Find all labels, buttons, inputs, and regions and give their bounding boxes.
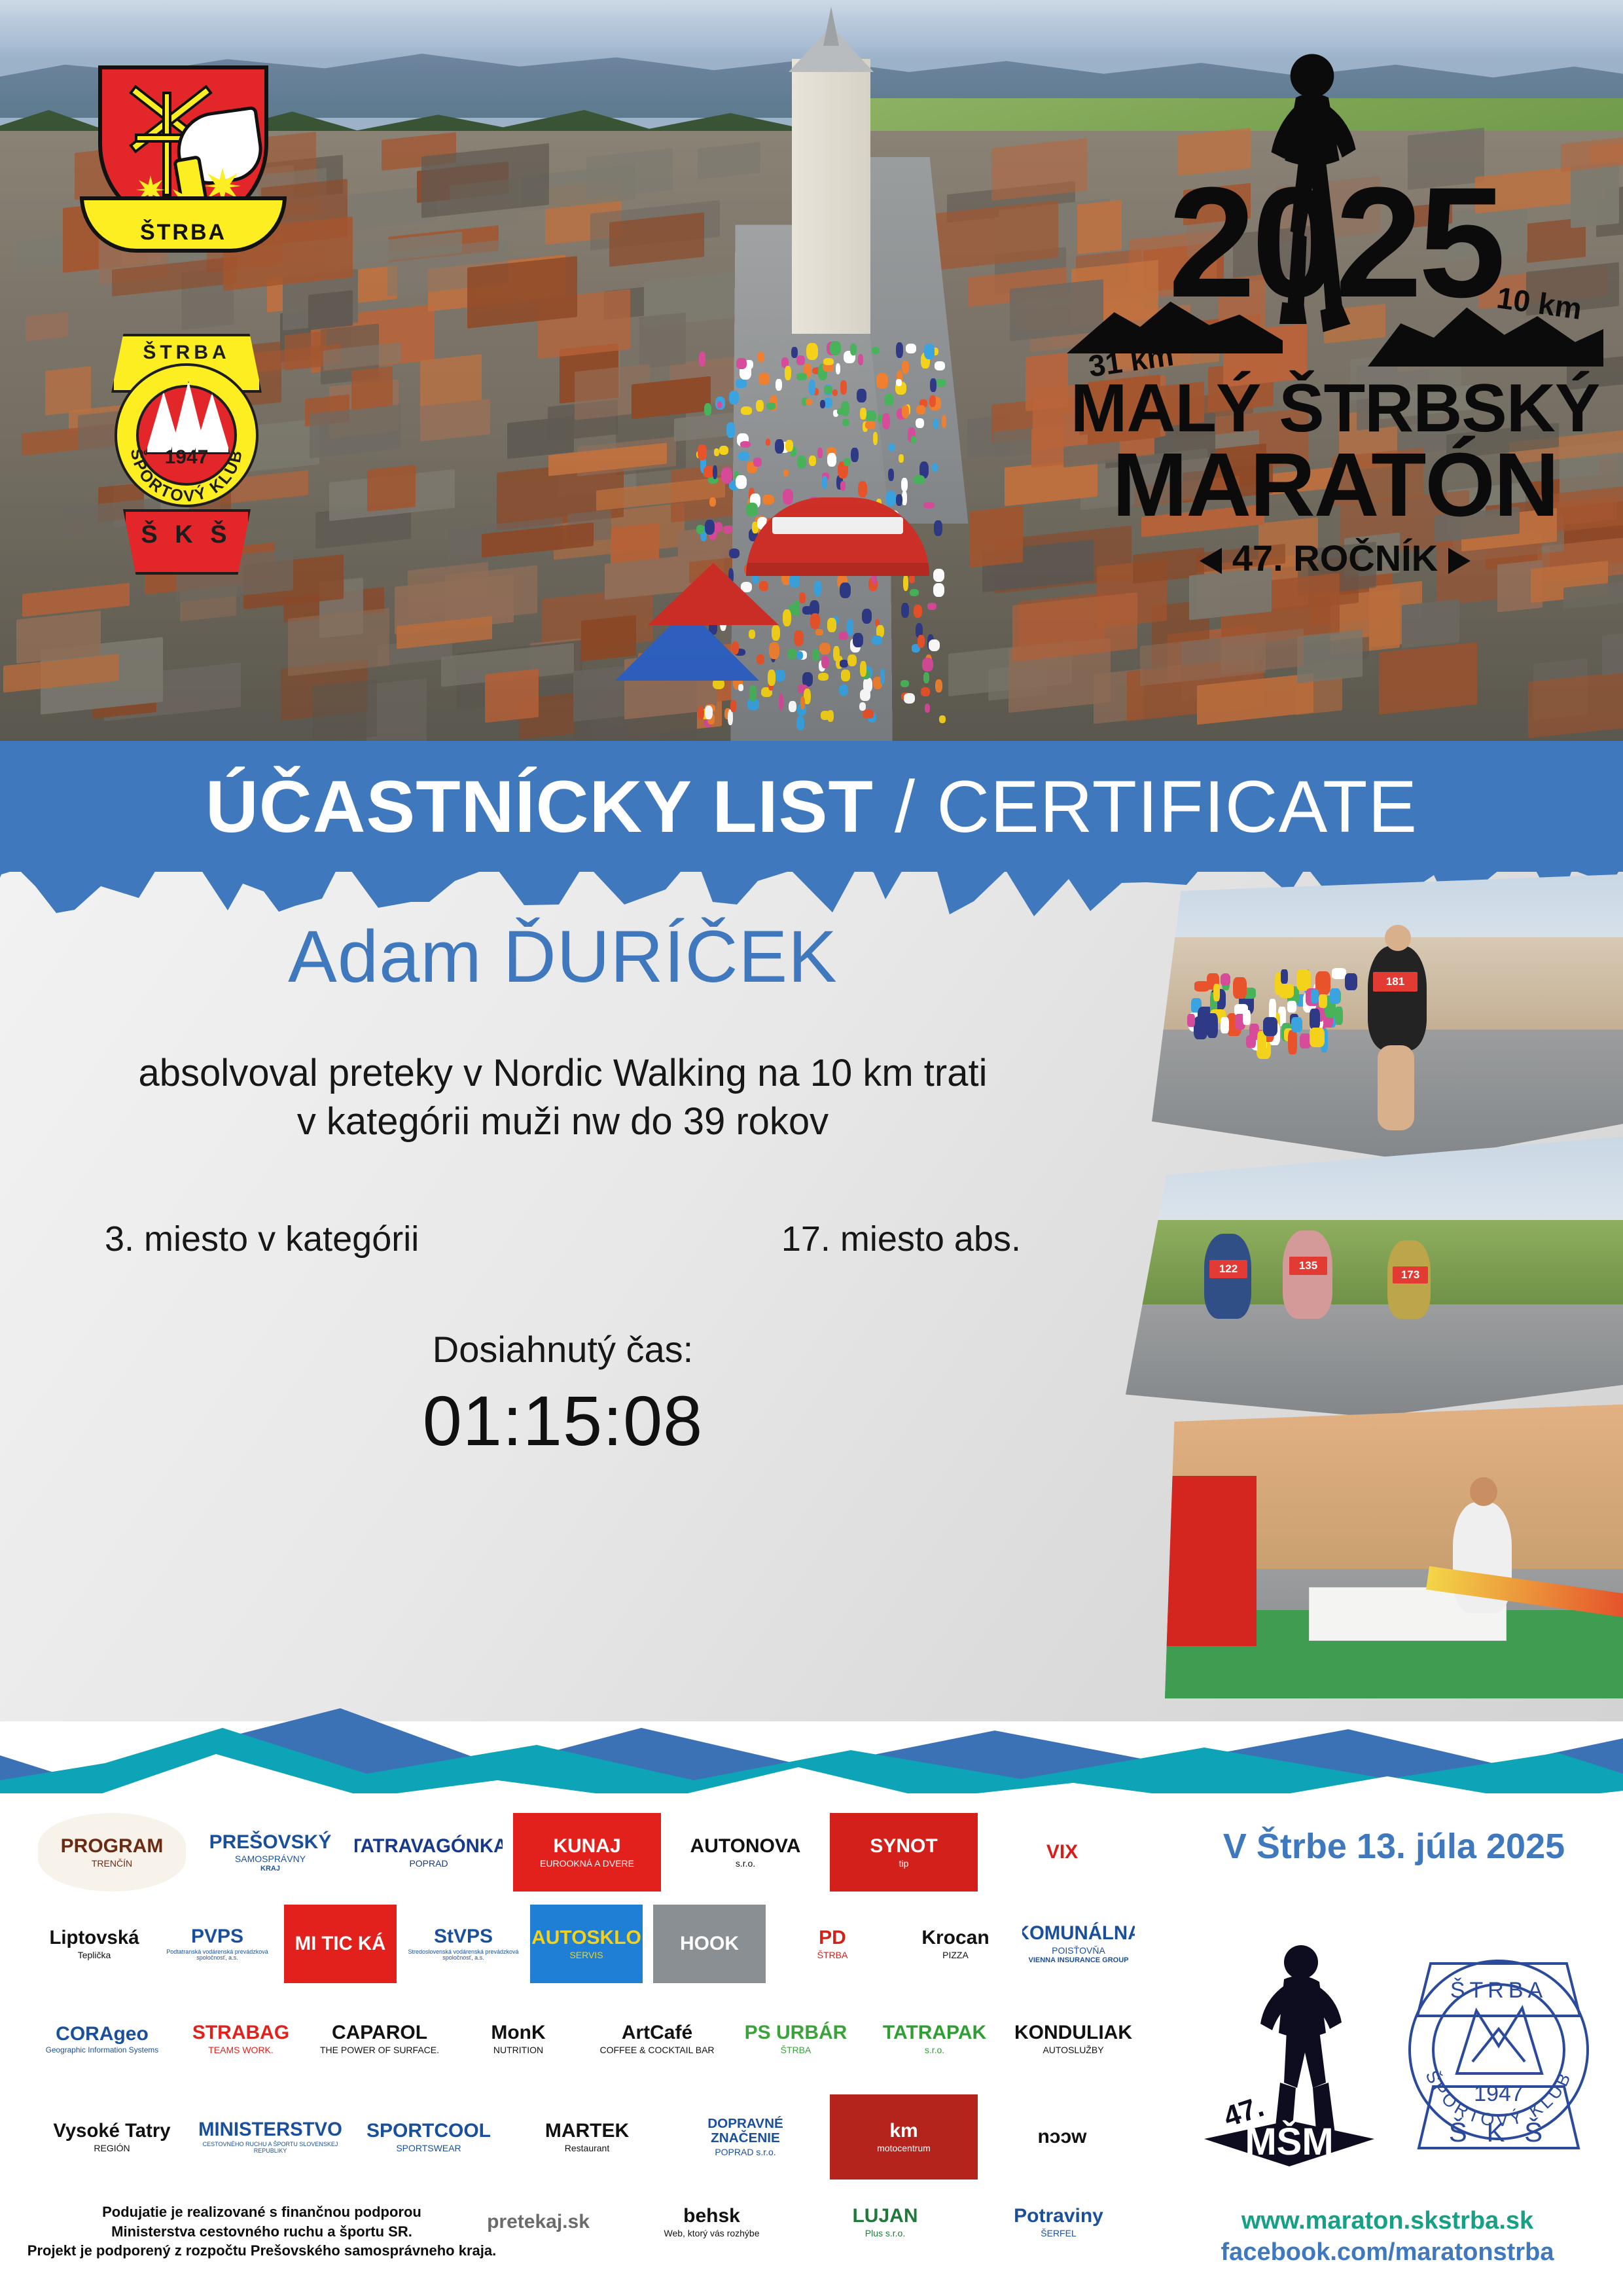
certificate-title: ÚČASTNÍCKY LIST / CERTIFICATE (205, 764, 1418, 849)
sponsor-label: LUJAN (852, 2206, 918, 2227)
photo2-bib-a: 122 (1209, 1260, 1247, 1278)
photo2-grass (1126, 1220, 1623, 1304)
sponsor-logo-3: TATRAVAGÓNKAPOPRAD (355, 1813, 503, 1892)
sponsor-name: PVPSPodtatranská vodárenská prevádzková … (161, 1926, 274, 1961)
sponsor-logo-33: behskWeb, ktorý vás rozhýbe (630, 2193, 793, 2251)
photo-spectator (1221, 974, 1230, 986)
category-placement: 3. miesto v kategórii (105, 1219, 419, 1259)
funding-disclaimer: Podujatie je realizované s finančnou pod… (26, 2202, 497, 2261)
sponsor-label: PREŠOVSKÝ (209, 1832, 332, 1853)
sponsor-name: PROGRAMTRENČÍN (61, 1836, 164, 1868)
sponsor-name: CAPAROLTHE POWER OF SURFACE. (320, 2022, 439, 2054)
photo-spectator (1311, 989, 1319, 1003)
sponsor-label: AUTONOVA (690, 1836, 801, 1857)
sponsor-label: PVPS (161, 1926, 274, 1947)
sponsor-name: MARTEKRestaurant (545, 2121, 629, 2153)
sponsor-label: Krocan (921, 1928, 989, 1948)
sponsor-logo-26: MINISTERSTVOCESTOVNÉHO RUCHU A ŠPORTU SL… (196, 2094, 344, 2179)
sponsor-logo-16: KOMUNÁLNAPOISŤOVŇAVIENNA INSURANCE GROUP (1022, 1905, 1135, 1983)
sponsor-label: KUNAJ (540, 1836, 634, 1857)
sponsor-logo-24: KONDULIAKAUTOSLUŽBY (1009, 1996, 1137, 2081)
sponsor-logo-30: kmmotocentrum (830, 2094, 978, 2179)
sponsor-logo-6: SYNOTtip (830, 1813, 978, 1892)
sponsor-name: VIX (1046, 1842, 1078, 1863)
certificate-content: Adam ĎURÍČEK absolvoval preteky v Nordic… (0, 916, 1126, 1462)
race-edition: 47. ROČNÍK (1232, 537, 1438, 579)
sponsor-label: HOOK (680, 1933, 739, 1954)
facebook-link[interactable]: facebook.com/maratonstrba (1158, 2237, 1616, 2269)
sponsor-logo-19: CAPAROLTHE POWER OF SURFACE. (315, 1996, 444, 2081)
sponsor-label: TATRAPAK (883, 2022, 986, 2043)
sponsor-tagline: s.r.o. (690, 1859, 801, 1869)
sponsor-name: KUNAJEUROOKNÁ A DVERE (540, 1836, 634, 1868)
sponsor-logo-7: VIX (988, 1813, 1136, 1892)
sponsor-name: Vysoké TatryREGIÓN (53, 2121, 170, 2153)
sponsor-name: AUTOSKLOSERVIS (531, 1928, 641, 1960)
disclaimer-line-2: Ministerstva cestovného ruchu a športu S… (26, 2222, 497, 2242)
sponsor-tagline: Geographic Information Systems (46, 2046, 158, 2054)
sponsor-logo-1: PROGRAMTRENČÍN (38, 1813, 186, 1892)
sponsor-label: PROGRAM (61, 1836, 164, 1857)
sponsor-label: StVPS (407, 1926, 520, 1947)
participant-name: Adam ĎURÍČEK (0, 916, 1126, 997)
race-edition-row: 47. ROČNÍK (1047, 537, 1623, 579)
sponsor-name: KOMUNÁLNAPOISŤOVŇAVIENNA INSURANCE GROUP (1022, 1924, 1135, 1964)
placement-row: 3. miesto v kategórii 17. miesto abs. (0, 1219, 1126, 1259)
emblem-abbr: Š K Š (105, 521, 268, 549)
sponsor-logo-13: HOOK (653, 1905, 766, 1983)
sponsor-label: TATRAVAGÓNKA (355, 1837, 503, 1857)
sponsor-name: MI TIC KÁ (295, 1934, 386, 1954)
sponsor-tagline: SAMOSPRÁVNY (209, 1854, 332, 1864)
race-name-line1: MALÝ ŠTRBSKÝ (1047, 373, 1623, 444)
emblem-arc-text: ŠPORTOVÝ KLUB (115, 364, 258, 507)
sponsor-logo-grid: PROGRAMTRENČÍNPREŠOVSKÝSAMOSPRÁVNYKRAJTA… (33, 1806, 1145, 2225)
sponsor-logo-20: MonKNUTRITION (454, 1996, 582, 2081)
sponsor-tagline: TRENČÍN (61, 1859, 164, 1869)
svg-text:ŠPORTOVÝ KLUB: ŠPORTOVÝ KLUB (127, 447, 247, 506)
photo-spectator (1221, 1017, 1229, 1033)
cross-staff (162, 92, 171, 196)
sponsor-label: STRABAG (192, 2022, 289, 2043)
photo-spectator (1207, 1013, 1218, 1038)
disclaimer-line-1: Podujatie je realizované s finančnou pod… (26, 2202, 497, 2222)
sponsor-name: DOPRAVNÉ ZNAČENIEPOPRAD s.r.o. (671, 2117, 819, 2157)
sponsor-tagline: SPORTSWEAR (366, 2144, 491, 2153)
sponsor-name: STRABAGTEAMS WORK. (192, 2022, 289, 2054)
distance-short: 10 km (1494, 279, 1584, 327)
sponsor-label: VIX (1046, 1842, 1078, 1863)
title-sk: ÚČASTNÍCKY LIST (205, 766, 874, 848)
sponsor-logo-2: PREŠOVSKÝSAMOSPRÁVNYKRAJ (196, 1813, 344, 1892)
title-separator: / (874, 766, 936, 848)
description-line-2: v kategórii muži nw do 39 rokov (0, 1098, 1126, 1146)
sponsor-name: nɔɔw (1037, 2126, 1086, 2147)
sponsor-tagline-2: VIENNA INSURANCE GROUP (1022, 1957, 1135, 1965)
photo-spectator (1233, 977, 1247, 999)
certificate-page: ŠTRBA ŠTRBA 1947 Š K Š ŠPORTOVÝ KLUB (0, 0, 1623, 2296)
sponsor-label: PD (817, 1928, 848, 1948)
photo-spectator (1287, 1001, 1296, 1013)
race-photo-collage: 181 122 135 173 (1126, 874, 1623, 1698)
triangle-right-icon (1448, 548, 1471, 574)
race-description: absolvoval preteky v Nordic Walking na 1… (0, 1049, 1126, 1146)
photo-spectator (1332, 968, 1346, 979)
sponsor-tagline: TEAMS WORK. (192, 2045, 289, 2055)
msm-runner-mark: 47. MŠM (1191, 1931, 1387, 2166)
sponsor-tagline: motocentrum (877, 2144, 931, 2153)
photo-spectator (1281, 969, 1288, 984)
sponsor-tagline: Podtatranská vodárenská prevádzková spol… (161, 1949, 274, 1962)
photo-spectator (1319, 994, 1327, 1008)
sponsor-tagline: Web, ktorý vás rozhýbe (664, 2229, 759, 2238)
sponsor-logo-29: DOPRAVNÉ ZNAČENIEPOPRAD s.r.o. (671, 2094, 819, 2179)
sponsor-label: Potraviny (1014, 2206, 1103, 2227)
sponsor-name: SPORTCOOLSPORTSWEAR (366, 2121, 491, 2153)
sponsor-label: KONDULIAK (1014, 2022, 1132, 2043)
title-en: CERTIFICATE (936, 766, 1418, 848)
sponsor-label: nɔɔw (1037, 2126, 1086, 2147)
sponsor-name: AUTONOVAs.r.o. (690, 1836, 801, 1868)
sponsor-tagline: AUTOSLUŽBY (1014, 2045, 1132, 2055)
photo-finishing-runner: 181 (1152, 874, 1623, 1162)
sponsor-label: CAPAROL (320, 2022, 439, 2043)
photo-finish-line-winner (1165, 1404, 1623, 1698)
sponsor-name: kmmotocentrum (877, 2121, 931, 2153)
photo-spectator (1263, 1017, 1277, 1036)
sponsor-name: StVPSStredoslovenská vodárenská prevádzk… (407, 1926, 520, 1961)
time-label: Dosiahnutý čas: (0, 1328, 1126, 1371)
triangle-left-icon (1200, 548, 1222, 574)
svg-text:1947: 1947 (1474, 2081, 1524, 2106)
sponsor-logo-11: StVPSStredoslovenská vodárenská prevádzk… (407, 1905, 520, 1983)
sponsor-logo-18: STRABAGTEAMS WORK. (177, 1996, 305, 2081)
sponsor-label: CORAgeo (46, 2024, 158, 2045)
sponsor-tagline: POPRAD (355, 1859, 503, 1869)
sponsor-label: SPORTCOOL (366, 2121, 491, 2142)
web-links: www.maraton.skstrba.sk facebook.com/mara… (1158, 2206, 1616, 2268)
sponsor-tagline: THE POWER OF SURFACE. (320, 2045, 439, 2055)
photo-spectator (1279, 984, 1294, 998)
photo2-bib-b: 135 (1289, 1257, 1327, 1275)
sponsor-logo-5: AUTONOVAs.r.o. (671, 1813, 819, 1892)
sponsor-tagline: tip (870, 1859, 937, 1869)
photo2-bib-c: 173 (1393, 1266, 1428, 1283)
sponsor-name: LiptovskáTeplička (49, 1928, 139, 1960)
absolute-placement: 17. miesto abs. (781, 1219, 1021, 1259)
race-name-line2: MARATÓN (1047, 440, 1623, 530)
svg-text:MŠM: MŠM (1245, 2121, 1333, 2163)
sponsor-tagline: POPRAD s.r.o. (671, 2147, 819, 2157)
sponsor-logo-25: Vysoké TatryREGIÓN (38, 2094, 186, 2179)
sponsor-tagline: ŠTRBA (817, 1950, 848, 1960)
sponsor-logo-28: MARTEKRestaurant (513, 2094, 661, 2179)
sponsor-label: Vysoké Tatry (53, 2121, 170, 2142)
sponsor-logo-10: MI TIC KÁ (284, 1905, 397, 1983)
sponsor-name: PotravinyŠERFEL (1014, 2206, 1103, 2238)
sponsor-logo-34: LUJANPlus s.r.o. (804, 2193, 967, 2251)
sponsor-logo-15: KrocanPIZZA (899, 1905, 1012, 1983)
photo3-red-barrier (1165, 1476, 1257, 1646)
sponsor-tagline: CESTOVNÉHO RUCHU A ŠPORTU SLOVENSKEJ REP… (196, 2142, 344, 2154)
sponsor-logo-17: CORAgeoGeographic Information Systems (38, 1996, 166, 2081)
sponsor-name: KrocanPIZZA (921, 1928, 989, 1960)
disclaimer-line-3: Projekt je podporený z rozpočtu Prešovsk… (26, 2241, 497, 2261)
photo-spectator (1213, 984, 1220, 1001)
photo-spectator (1310, 1009, 1320, 1030)
sponsor-tagline: POISŤOVŇA (1022, 1946, 1135, 1956)
sponsor-label: behsk (664, 2206, 759, 2227)
svg-text:ŠTRBA: ŠTRBA (1450, 1978, 1547, 2003)
photo2-road (1126, 1304, 1623, 1417)
sponsor-name: PREŠOVSKÝSAMOSPRÁVNYKRAJ (209, 1832, 332, 1873)
sponsor-logo-35: PotravinyŠERFEL (977, 2193, 1140, 2251)
sponsor-tagline: NUTRITION (491, 2045, 545, 2055)
sponsor-tagline: Plus s.r.o. (852, 2229, 918, 2238)
sponsor-label: DOPRAVNÉ ZNAČENIE (671, 2117, 819, 2145)
sponsor-name: ArtCaféCOFFEE & COCKTAIL BAR (599, 2022, 714, 2054)
sponsor-tagline: EUROOKNÁ A DVERE (540, 1859, 634, 1869)
photo-spectator (1288, 1030, 1296, 1055)
sponsor-logo-12: AUTOSKLOSERVIS (530, 1905, 643, 1983)
sponsor-label: MINISTERSTVO (196, 2120, 344, 2140)
sponsor-label: km (877, 2121, 931, 2142)
sponsor-label: pretekaj.sk (487, 2212, 590, 2233)
sponsor-tagline: Stredoslovenská vodárenská prevádzková s… (407, 1949, 520, 1962)
sponsor-name: HOOK (680, 1933, 739, 1954)
photo-spectator (1194, 981, 1209, 992)
sponsor-logo-9: PVPSPodtatranská vodárenská prevádzková … (161, 1905, 274, 1983)
sponsor-logo-27: SPORTCOOLSPORTSWEAR (355, 2094, 503, 2179)
photo-spectator (1187, 1014, 1195, 1026)
sponsor-logo-14: PDŠTRBA (776, 1905, 889, 1983)
sponsor-name: PS URBÁRŠTRBA (745, 2022, 847, 2054)
photo3-winner-head (1470, 1477, 1497, 1506)
sponsor-logo-4: KUNAJEUROOKNÁ A DVERE (513, 1813, 661, 1892)
photo-spectator (1330, 988, 1340, 1003)
sponsor-name: pretekaj.sk (487, 2212, 590, 2233)
sponsor-tagline: ŠERFEL (1014, 2229, 1103, 2238)
sponsor-label: AUTOSKLO (531, 1928, 641, 1948)
photo1-runner-legs (1378, 1045, 1414, 1130)
photo1-runner-head (1385, 925, 1411, 951)
sponsor-name: SYNOTtip (870, 1836, 937, 1868)
sponsor-name: TATRAVAGÓNKAPOPRAD (355, 1837, 503, 1868)
issue-date: V Štrbe 13. júla 2025 (1171, 1826, 1616, 1867)
sponsor-name: CORAgeoGeographic Information Systems (46, 2024, 158, 2054)
sponsor-tagline: SERVIS (531, 1950, 641, 1960)
coat-of-arms-label: ŠTRBA (98, 220, 268, 245)
sks-club-stamp: ŠTRBA 1947 Š K Š ŠPORTOVÝ KLUB (1394, 1937, 1603, 2160)
sponsor-tagline: s.r.o. (883, 2045, 986, 2055)
description-line-1: absolvoval preteky v Nordic Walking na 1… (0, 1049, 1126, 1098)
sponsor-name: MINISTERSTVOCESTOVNÉHO RUCHU A ŠPORTU SL… (196, 2120, 344, 2155)
photo-spectator (1243, 1010, 1251, 1025)
finish-time: 01:15:08 (0, 1380, 1126, 1462)
sponsor-label: KOMUNÁLNA (1022, 1924, 1135, 1944)
sponsor-name: KONDULIAKAUTOSLUŽBY (1014, 2022, 1132, 2054)
sponsor-label: PS URBÁR (745, 2022, 847, 2043)
sponsor-logo-8: LiptovskáTeplička (38, 1905, 151, 1983)
sponsor-tagline-2: KRAJ (209, 1865, 332, 1873)
sponsor-label: MI TIC KÁ (295, 1934, 386, 1954)
sponsor-logo-21: ArtCaféCOFFEE & COCKTAIL BAR (593, 1996, 721, 2081)
sponsor-logo-31: nɔɔw (988, 2094, 1136, 2179)
website-link[interactable]: www.maraton.skstrba.sk (1158, 2206, 1616, 2237)
sponsor-label: SYNOT (870, 1836, 937, 1857)
sponsor-name: PDŠTRBA (817, 1928, 848, 1960)
sponsor-logo-22: PS URBÁRŠTRBA (732, 1996, 860, 2081)
sponsor-name: TATRAPAKs.r.o. (883, 2022, 986, 2054)
sponsor-tagline: COFFEE & COCKTAIL BAR (599, 2045, 714, 2055)
hero-photo-village-aerial: ŠTRBA ŠTRBA 1947 Š K Š ŠPORTOVÝ KLUB (0, 0, 1623, 746)
sponsor-logo-23: TATRAPAKs.r.o. (870, 1996, 999, 2081)
photo-spectator (1345, 973, 1357, 990)
strba-coat-of-arms: ŠTRBA (98, 65, 268, 262)
photo-runners-on-hill: 122 135 173 (1126, 1136, 1623, 1417)
sponsor-label: Liptovská (49, 1928, 139, 1948)
photo1-bib-number: 181 (1373, 972, 1418, 992)
sponsor-name: MonKNUTRITION (491, 2022, 545, 2054)
sponsor-label: MARTEK (545, 2121, 629, 2142)
photo-spectator (1246, 1035, 1255, 1048)
photo1-runner-body (1368, 946, 1427, 1050)
photo-spectator (1194, 1016, 1207, 1039)
sponsor-label: ArtCafé (599, 2022, 714, 2043)
sponsor-name: behskWeb, ktorý vás rozhýbe (664, 2206, 759, 2238)
photo-spectator (1291, 1017, 1302, 1033)
photo-spectator (1335, 1007, 1343, 1025)
sponsor-name: LUJANPlus s.r.o. (852, 2206, 918, 2238)
sponsor-tagline: ŠTRBA (745, 2045, 847, 2055)
sponsor-tagline: REGIÓN (53, 2144, 170, 2153)
sks-club-emblem: ŠTRBA 1947 Š K Š ŠPORTOVÝ KLUB (105, 334, 268, 576)
photo-spectator (1310, 1028, 1325, 1047)
sponsor-tagline: Teplička (49, 1950, 139, 1960)
sponsor-tagline: Restaurant (545, 2144, 629, 2153)
club-marks: 47. MŠM ŠTRBA 1947 Š K Š ŠPORTOVÝ KLUB (1178, 1918, 1623, 2179)
race-title-block: 2025 31 km 10 km MALÝ ŠTRBSKÝ MARATÓN 47… (1047, 33, 1623, 609)
sponsor-label: MonK (491, 2022, 545, 2043)
emblem-top-label: ŠTRBA (105, 342, 268, 364)
sponsor-tagline: PIZZA (921, 1950, 989, 1960)
